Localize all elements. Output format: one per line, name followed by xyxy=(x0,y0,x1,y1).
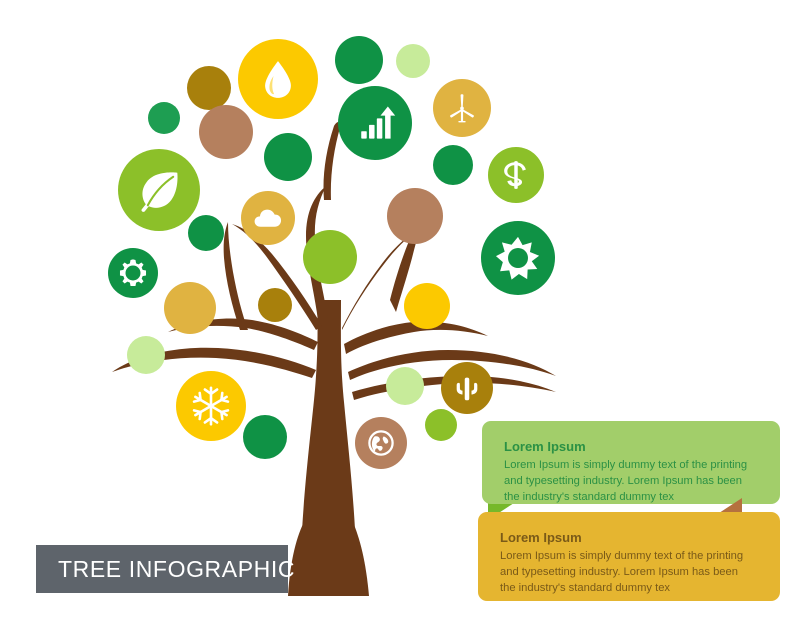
dollar-icon[interactable] xyxy=(488,147,544,203)
leaf-dot xyxy=(127,336,165,374)
gear-icon[interactable] xyxy=(108,248,158,298)
infographic-canvas: Lorem Ipsum Lorem Ipsum is simply dummy … xyxy=(0,0,800,623)
yellow-callout-title: Lorem Ipsum xyxy=(500,530,754,546)
leaf-dot xyxy=(187,66,231,110)
leaf-dot xyxy=(387,188,443,244)
gear-inner-disc xyxy=(126,266,141,281)
leaf-dot xyxy=(199,105,253,159)
wind-turbine-icon[interactable] xyxy=(433,79,491,137)
cloud-icon[interactable] xyxy=(241,191,295,245)
leaf-dot xyxy=(188,215,224,251)
growth-chart-icon-background xyxy=(338,86,412,160)
sun-inner-disc xyxy=(508,248,528,268)
leaf-dot xyxy=(164,282,216,334)
leaf-dot xyxy=(148,102,180,134)
leaf-icon[interactable] xyxy=(118,149,200,231)
growth-chart-icon[interactable] xyxy=(338,86,412,160)
green-callout-title: Lorem Ipsum xyxy=(504,439,754,455)
yellow-callout[interactable]: Lorem Ipsum Lorem Ipsum is simply dummy … xyxy=(478,512,780,601)
leaf-dot xyxy=(303,230,357,284)
leaf-dot xyxy=(335,36,383,84)
leaf-dot xyxy=(258,288,292,322)
leaf-dot xyxy=(404,283,450,329)
page-title: TREE INFOGRAPHIC xyxy=(58,556,295,583)
leaf-dot xyxy=(433,145,473,185)
green-callout[interactable]: Lorem Ipsum Lorem Ipsum is simply dummy … xyxy=(482,421,780,504)
leaf-dot xyxy=(425,409,457,441)
leaf-dot xyxy=(264,133,312,181)
water-drop-icon[interactable] xyxy=(238,39,318,119)
leaf-dot xyxy=(396,44,430,78)
snowflake-icon[interactable] xyxy=(176,371,246,441)
globe-icon[interactable] xyxy=(355,417,407,469)
yellow-callout-body: Lorem Ipsum is simply dummy text of the … xyxy=(500,549,754,597)
leaf-dot xyxy=(243,415,287,459)
sun-icon[interactable] xyxy=(481,221,555,295)
leaf-dot xyxy=(386,367,424,405)
title-banner: TREE INFOGRAPHIC xyxy=(36,545,288,593)
cactus-icon[interactable] xyxy=(441,362,493,414)
